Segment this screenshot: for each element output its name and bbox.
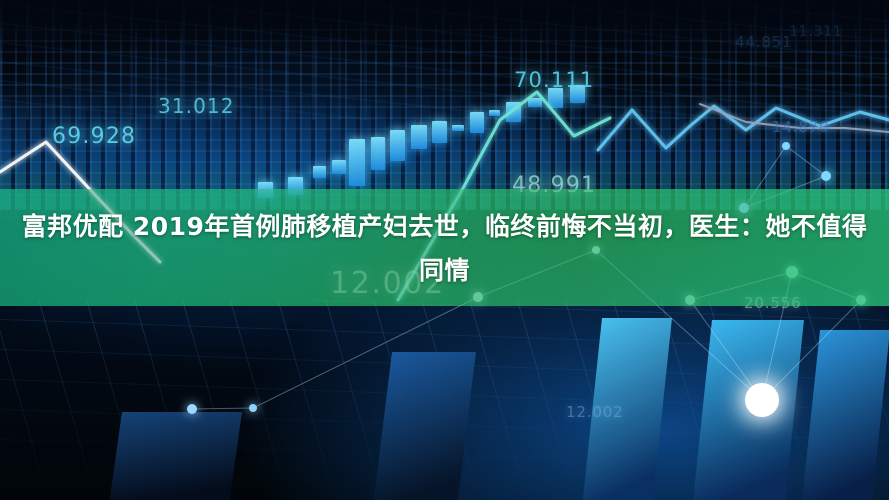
lattice-line <box>253 297 478 408</box>
network-node <box>821 171 831 181</box>
candle-bar <box>548 88 563 108</box>
candle-bar <box>349 139 365 186</box>
network-node <box>782 142 790 150</box>
candle-bar <box>570 85 585 103</box>
candle-bar <box>390 130 405 161</box>
headline-line-2: 同情 <box>8 249 881 293</box>
lattice-line <box>690 300 762 400</box>
lattice-line <box>192 408 253 409</box>
candle-bar <box>432 121 447 143</box>
network-node <box>249 404 257 412</box>
lattice-line <box>786 146 826 176</box>
candle-bar <box>411 125 427 149</box>
candle-bar <box>528 98 542 107</box>
candle-bar <box>313 166 326 178</box>
network-node <box>187 404 197 414</box>
candle-bar <box>332 160 346 174</box>
candle-bar <box>489 110 500 116</box>
headline-line-1: 富邦优配 2019年首例肺移植产妇去世，临终前悔不当初，医生：她不值得 <box>22 212 868 241</box>
candle-bar <box>452 125 464 131</box>
banner-image: 69.92831.01270.11148.99112.00212.00220.5… <box>0 0 889 500</box>
headline-text: 富邦优配 2019年首例肺移植产妇去世，临终前悔不当初，医生：她不值得 同情 <box>0 205 889 293</box>
network-node <box>745 383 779 417</box>
lattice-line <box>762 300 861 400</box>
candle-bar <box>470 112 484 133</box>
candle-bar <box>371 137 385 170</box>
candlestick-group <box>258 85 585 198</box>
